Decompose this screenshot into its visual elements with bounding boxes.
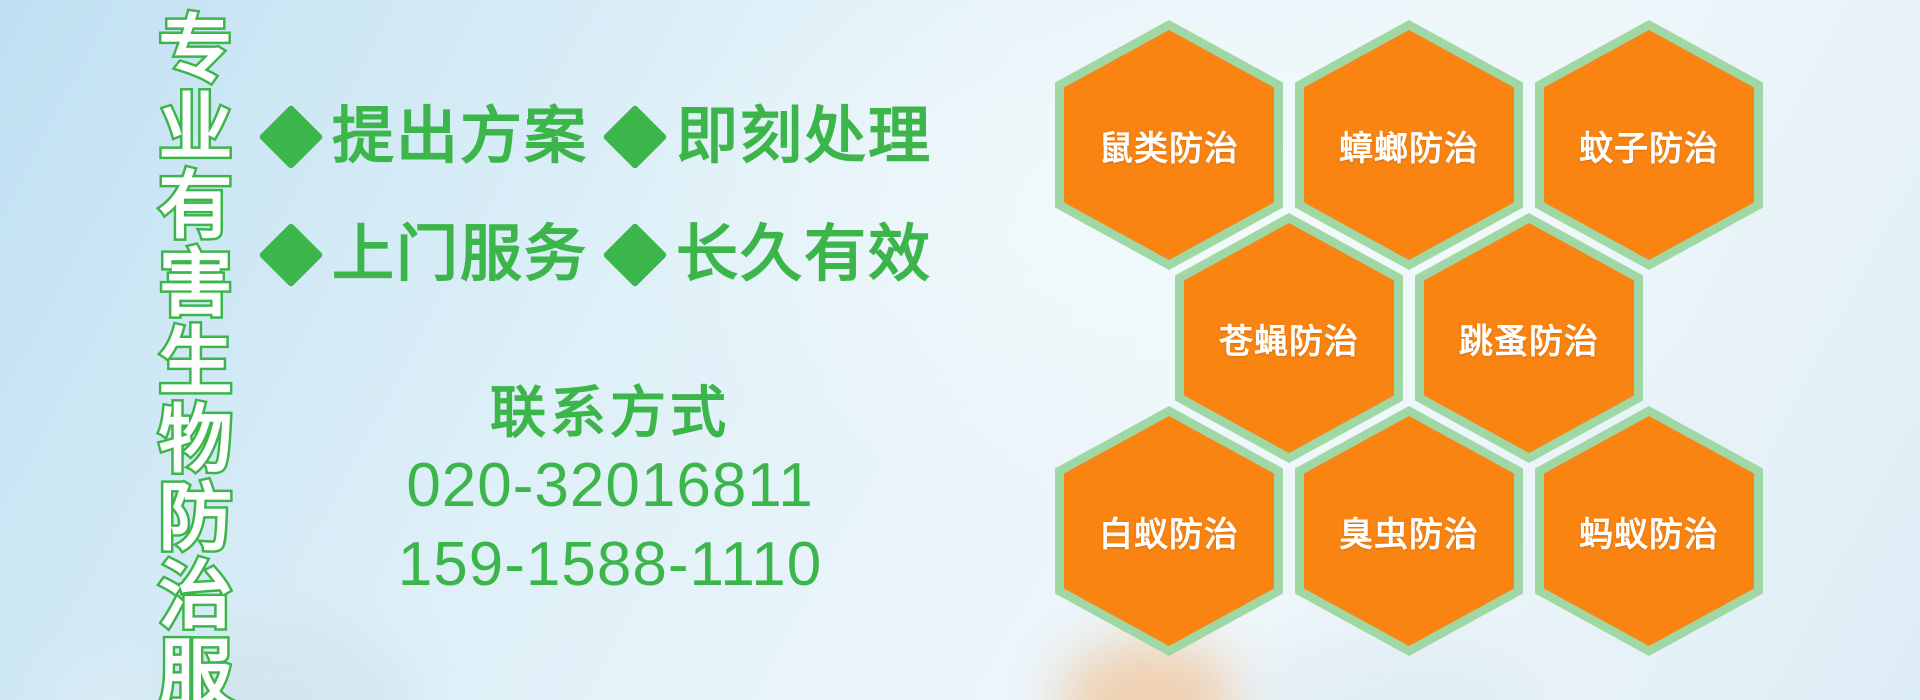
feature-item: 即刻处理 bbox=[612, 106, 932, 168]
hex-cell-mosquito[interactable]: 蚊子防治 bbox=[1535, 20, 1763, 270]
vertical-banner-title: 专业有害生物防治服务 bbox=[128, 10, 224, 670]
feature-item: 上门服务 bbox=[268, 224, 588, 286]
hex-label: 苍蝇防治 bbox=[1219, 314, 1359, 363]
feature-label: 长久有效 bbox=[676, 224, 932, 286]
feature-label: 即刻处理 bbox=[676, 106, 932, 168]
diamond-icon bbox=[258, 222, 323, 287]
phone-number-mobile[interactable]: 159-1588-1110 bbox=[330, 525, 890, 604]
hex-cell-rodent[interactable]: 鼠类防治 bbox=[1055, 20, 1283, 270]
hex-label: 蚊子防治 bbox=[1579, 121, 1719, 170]
phone-number-landline[interactable]: 020-32016811 bbox=[330, 446, 890, 525]
diamond-icon bbox=[602, 222, 667, 287]
hex-cell-flea[interactable]: 跳蚤防治 bbox=[1415, 213, 1643, 463]
feature-row: 提出方案 即刻处理 bbox=[268, 78, 868, 196]
hex-label: 臭虫防治 bbox=[1339, 507, 1479, 556]
contact-block: 联系方式 020-32016811 159-1588-1110 bbox=[330, 380, 890, 605]
hex-cell-termite[interactable]: 白蚁防治 bbox=[1055, 406, 1283, 656]
hex-label: 鼠类防治 bbox=[1099, 121, 1239, 170]
hex-cell-fly[interactable]: 苍蝇防治 bbox=[1175, 213, 1403, 463]
service-honeycomb: 鼠类防治 蟑螂防治 蚊子防治 苍蝇防治 跳蚤防治 白蚁防治 臭虫防治 蚂蚁防治 bbox=[1055, 6, 1795, 696]
hex-cell-bedbug[interactable]: 臭虫防治 bbox=[1295, 406, 1523, 656]
hex-cell-cockroach[interactable]: 蟑螂防治 bbox=[1295, 20, 1523, 270]
hex-label: 蚂蚁防治 bbox=[1579, 507, 1719, 556]
feature-item: 提出方案 bbox=[268, 106, 588, 168]
diamond-icon bbox=[602, 104, 667, 169]
feature-row: 上门服务 长久有效 bbox=[268, 196, 868, 314]
hex-cell-ant[interactable]: 蚂蚁防治 bbox=[1535, 406, 1763, 656]
feature-label: 上门服务 bbox=[332, 224, 588, 286]
feature-item: 长久有效 bbox=[612, 224, 932, 286]
feature-list: 提出方案 即刻处理 上门服务 长久有效 bbox=[268, 78, 868, 314]
feature-label: 提出方案 bbox=[332, 106, 588, 168]
hex-label: 跳蚤防治 bbox=[1459, 314, 1599, 363]
contact-title: 联系方式 bbox=[330, 380, 890, 446]
hex-label: 蟑螂防治 bbox=[1339, 121, 1479, 170]
hex-label: 白蚁防治 bbox=[1099, 507, 1239, 556]
background-bokeh-blob bbox=[60, 670, 150, 700]
diamond-icon bbox=[258, 104, 323, 169]
pest-control-banner: 专业有害生物防治服务 提出方案 即刻处理 上门服务 长久有效 联系方式 bbox=[0, 0, 1920, 700]
